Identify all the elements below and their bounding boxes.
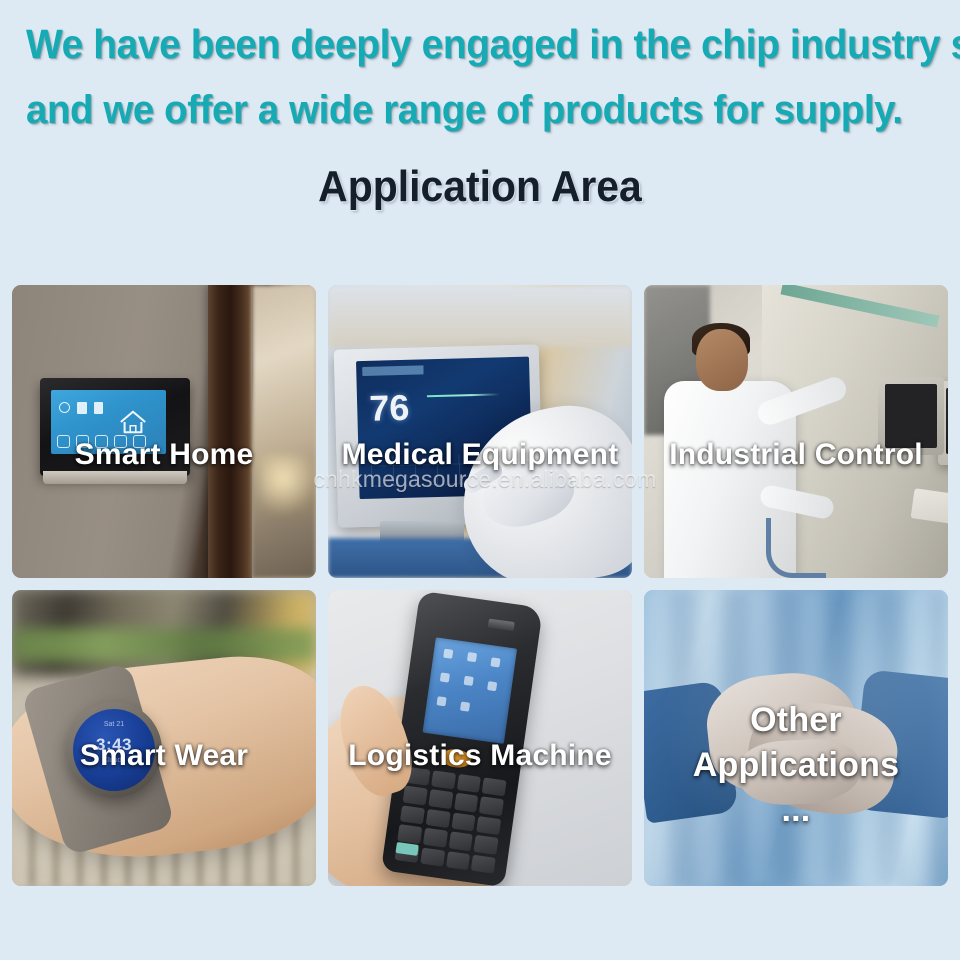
watch-subtitle: Cloudy: [73, 757, 155, 764]
logistics-machine-photo: [328, 590, 632, 886]
other-applications-photo: [644, 590, 948, 886]
ceiling-blur: [328, 285, 632, 347]
curtain-icon: [133, 435, 146, 448]
machine-keyboard: [911, 488, 948, 536]
smart-wear-photo: Sat 21 3:43 Cloudy: [12, 590, 316, 886]
weather-widgets: [59, 402, 103, 414]
card-smart-home[interactable]: Smart Home: [12, 285, 316, 578]
card-other-applications[interactable]: Other Applications ...: [644, 590, 948, 886]
door-frame: [208, 285, 252, 578]
panel-dock: [57, 435, 160, 448]
watch-date: Sat 21: [73, 721, 155, 728]
card-logistics-machine[interactable]: Logistics Machine: [328, 590, 632, 886]
monitor-topbar: [362, 363, 523, 376]
house-icon: [118, 408, 148, 436]
temperature-icon: [77, 402, 87, 414]
spo2-trace: [356, 357, 529, 362]
camera-icon: [114, 435, 127, 448]
room-interior: [252, 285, 316, 578]
operator-head: [696, 329, 748, 391]
card-industrial-control[interactable]: Industrial Control: [644, 285, 948, 578]
card-smart-wear[interactable]: Sat 21 3:43 Cloudy Smart Wear: [12, 590, 316, 886]
industrial-control-photo: [644, 285, 948, 578]
hedge-blur: [12, 628, 316, 662]
ecg-trace: [427, 393, 500, 397]
speaker-grille: [488, 619, 515, 632]
light-icon: [76, 435, 89, 448]
smartwatch: Sat 21 3:43 Cloudy: [66, 702, 162, 798]
keypad: [395, 767, 507, 874]
secondary-monitor: [878, 377, 944, 455]
light-glare: [644, 590, 948, 886]
headline-line-1: We have been deeply engaged in the chip …: [26, 18, 923, 70]
watch-face: Sat 21 3:43 Cloudy: [73, 709, 155, 791]
terminal-screen: [423, 637, 518, 743]
headline-line-2: and we offer a wide range of products fo…: [26, 84, 923, 136]
sun-icon: [59, 402, 70, 413]
application-area-grid: Smart Home 76 Medical Equipment: [12, 285, 948, 886]
page-title: Application Area: [34, 162, 927, 212]
panel-base: [43, 471, 187, 484]
floor-hose: [766, 518, 826, 578]
card-medical-equipment[interactable]: 76 Medical Equipment: [328, 285, 632, 578]
smart-home-photo: [12, 285, 316, 578]
smart-home-panel: [40, 378, 190, 476]
lock-icon: [95, 435, 108, 448]
panel-screen: [51, 390, 166, 454]
fan-icon: [57, 435, 70, 448]
day-icon: [94, 402, 103, 414]
medical-equipment-photo: 76: [328, 285, 632, 578]
page-header: We have been deeply engaged in the chip …: [0, 0, 960, 212]
scan-button: [440, 747, 472, 769]
watch-time: 3:43: [73, 735, 155, 755]
vital-value: 76: [369, 390, 410, 427]
